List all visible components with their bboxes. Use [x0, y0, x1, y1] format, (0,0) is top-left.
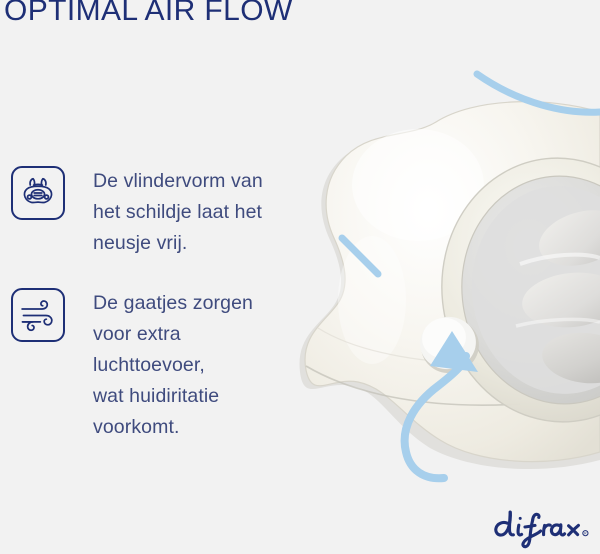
svg-text:R: R — [584, 531, 587, 535]
feature-line: neusje vrij. — [93, 228, 263, 259]
air-hole — [415, 312, 481, 375]
air-flow-arrow — [405, 331, 478, 478]
nipple-lobe-bottom — [540, 329, 600, 388]
air-hole-shadow — [416, 314, 484, 379]
product-photo — [0, 0, 600, 554]
feature-line: De gaatjes zorgen — [93, 288, 253, 319]
shield-ring-outer — [429, 146, 600, 433]
accent-arc-top-right — [477, 74, 600, 112]
accent-dash-mid-left — [342, 238, 378, 274]
infographic-page: OPTIMAL AIR FLOW — [0, 0, 600, 554]
brand-logo: R — [492, 505, 592, 547]
shield-highlight — [352, 129, 484, 241]
pacifier-shield — [305, 102, 600, 462]
pacifier-shield-icon — [11, 166, 65, 220]
feature-line: De vlindervorm van — [93, 166, 263, 197]
feature-item-air-holes: De gaatjes zorgen voor extra luchttoevoe… — [11, 288, 253, 443]
feature-line: voorkomt. — [93, 412, 253, 443]
feature-line: voor extra — [93, 319, 253, 350]
feature-text-butterfly-shape: De vlindervorm van het schildje laat het… — [93, 166, 263, 259]
feature-line: het schildje laat het — [93, 197, 263, 228]
air-flow-icon — [11, 288, 65, 342]
page-title: OPTIMAL AIR FLOW — [4, 0, 293, 31]
shield-ring-inner — [451, 166, 600, 414]
feature-text-air-holes: De gaatjes zorgen voor extra luchttoevoe… — [93, 288, 253, 443]
nipple-lobe-top — [533, 201, 600, 275]
feature-line: luchttoevoer, — [93, 350, 253, 381]
feature-item-butterfly-shape: De vlindervorm van het schildje laat het… — [11, 166, 263, 259]
nipple-lobe-mid — [519, 268, 600, 332]
feature-line: wat huidiritatie — [93, 381, 253, 412]
